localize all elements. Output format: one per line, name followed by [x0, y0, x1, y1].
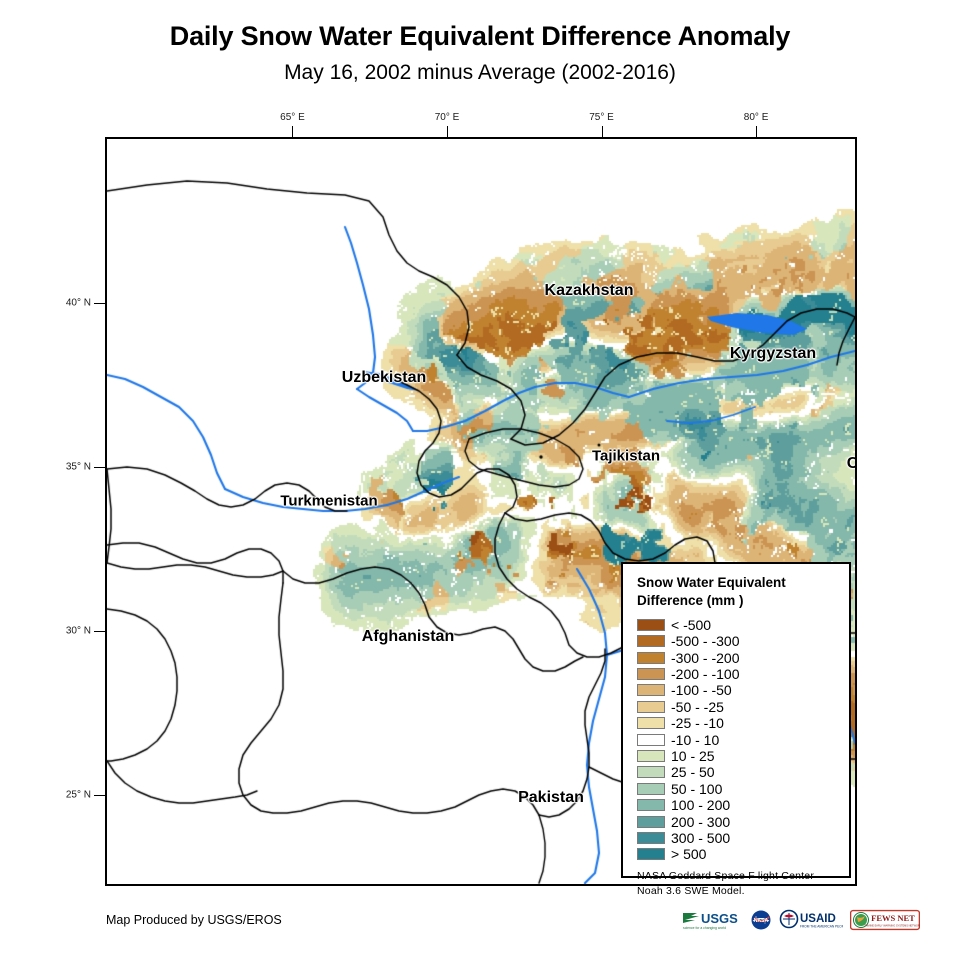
legend-credit-line-1: NASA Goddard Space F light Center	[637, 869, 849, 884]
longitude-tick	[756, 126, 757, 137]
svg-text:FEWS NET: FEWS NET	[871, 913, 915, 923]
longitude-label: 75° E	[589, 112, 614, 123]
legend-row: -50 - -25	[637, 699, 849, 715]
legend-row: > 500	[637, 846, 849, 862]
longitude-label: 65° E	[280, 112, 305, 123]
legend-swatch	[637, 783, 665, 795]
svg-text:FROM THE AMERICAN PEOPLE: FROM THE AMERICAN PEOPLE	[800, 925, 843, 929]
legend-row: 300 - 500	[637, 830, 849, 846]
legend-row: 50 - 100	[637, 781, 849, 797]
legend-swatch	[637, 619, 665, 631]
legend-row: 200 - 300	[637, 813, 849, 829]
legend-swatch	[637, 717, 665, 729]
footer-credit: Map Produced by USGS/EROS	[106, 913, 282, 927]
legend-swatch	[637, 635, 665, 647]
logo-bar: USGS science for a changing world NASA U…	[681, 908, 920, 932]
legend-swatch	[637, 848, 665, 860]
legend-label: -100 - -50	[671, 683, 732, 697]
legend-swatch	[637, 750, 665, 762]
legend-label: > 500	[671, 847, 706, 861]
legend-swatch	[637, 799, 665, 811]
legend-swatch	[637, 734, 665, 746]
legend-title: Snow Water Equivalent Difference (mm )	[637, 574, 827, 610]
legend-label: 25 - 50	[671, 765, 715, 779]
usgs-logo: USGS science for a changing world	[681, 909, 743, 931]
longitude-label: 70° E	[435, 112, 460, 123]
svg-text:NASA: NASA	[754, 918, 769, 924]
map-legend: Snow Water Equivalent Difference (mm ) <…	[621, 562, 851, 878]
longitude-tick	[292, 126, 293, 137]
latitude-tick	[94, 631, 105, 632]
legend-swatch	[637, 684, 665, 696]
legend-label: < -500	[671, 618, 711, 632]
legend-swatch	[637, 701, 665, 713]
legend-title-line-1: Snow Water Equivalent	[637, 574, 827, 592]
legend-label: -25 - -10	[671, 716, 724, 730]
longitude-tick	[447, 126, 448, 137]
legend-row: 100 - 200	[637, 797, 849, 813]
legend-row: < -500	[637, 617, 849, 633]
legend-swatch	[637, 832, 665, 844]
svg-text:USAID: USAID	[800, 913, 836, 925]
latitude-label: 35° N	[66, 462, 91, 473]
legend-credit-line-2: Noah 3.6 SWE Model.	[637, 884, 849, 899]
longitude-label: 80° E	[744, 112, 769, 123]
svg-text:FAMINE EARLY WARNING SYSTEMS N: FAMINE EARLY WARNING SYSTEMS NETWORK	[865, 925, 920, 928]
legend-label: 200 - 300	[671, 815, 730, 829]
legend-label: -500 - -300	[671, 634, 739, 648]
svg-text:USGS: USGS	[701, 911, 738, 926]
latitude-label: 40° N	[66, 298, 91, 309]
latitude-tick	[94, 303, 105, 304]
legend-row: -25 - -10	[637, 715, 849, 731]
legend-swatch	[637, 816, 665, 828]
legend-label: -50 - -25	[671, 700, 724, 714]
legend-label: 10 - 25	[671, 749, 715, 763]
svg-text:science for a changing world: science for a changing world	[683, 926, 726, 930]
legend-credit: NASA Goddard Space F light Center Noah 3…	[637, 869, 849, 899]
latitude-tick	[94, 795, 105, 796]
legend-row: 25 - 50	[637, 764, 849, 780]
usaid-logo: USAID FROM THE AMERICAN PEOPLE	[779, 909, 843, 931]
page-title: Daily Snow Water Equivalent Difference A…	[0, 22, 960, 52]
page-subtitle: May 16, 2002 minus Average (2002-2016)	[0, 61, 960, 84]
nasa-logo: NASA	[750, 909, 772, 931]
legend-label: -200 - -100	[671, 667, 739, 681]
legend-swatch	[637, 668, 665, 680]
legend-row: -10 - 10	[637, 731, 849, 747]
latitude-tick	[94, 467, 105, 468]
title-block: Daily Snow Water Equivalent Difference A…	[0, 22, 960, 84]
legend-label: -300 - -200	[671, 651, 739, 665]
legend-row: 10 - 25	[637, 748, 849, 764]
legend-title-line-2: Difference (mm )	[637, 592, 827, 610]
legend-swatch	[637, 766, 665, 778]
legend-swatch	[637, 652, 665, 664]
legend-label: 50 - 100	[671, 782, 722, 796]
legend-label: 100 - 200	[671, 798, 730, 812]
legend-row: -300 - -200	[637, 649, 849, 665]
latitude-label: 25° N	[66, 790, 91, 801]
legend-row: -100 - -50	[637, 682, 849, 698]
legend-items: < -500-500 - -300-300 - -200-200 - -100-…	[637, 617, 849, 863]
legend-row: -500 - -300	[637, 633, 849, 649]
latitude-label: 30° N	[66, 626, 91, 637]
fewsnet-logo: FEWS NET FAMINE EARLY WARNING SYSTEMS NE…	[850, 909, 920, 931]
legend-label: 300 - 500	[671, 831, 730, 845]
legend-label: -10 - 10	[671, 733, 719, 747]
longitude-tick	[602, 126, 603, 137]
legend-row: -200 - -100	[637, 666, 849, 682]
